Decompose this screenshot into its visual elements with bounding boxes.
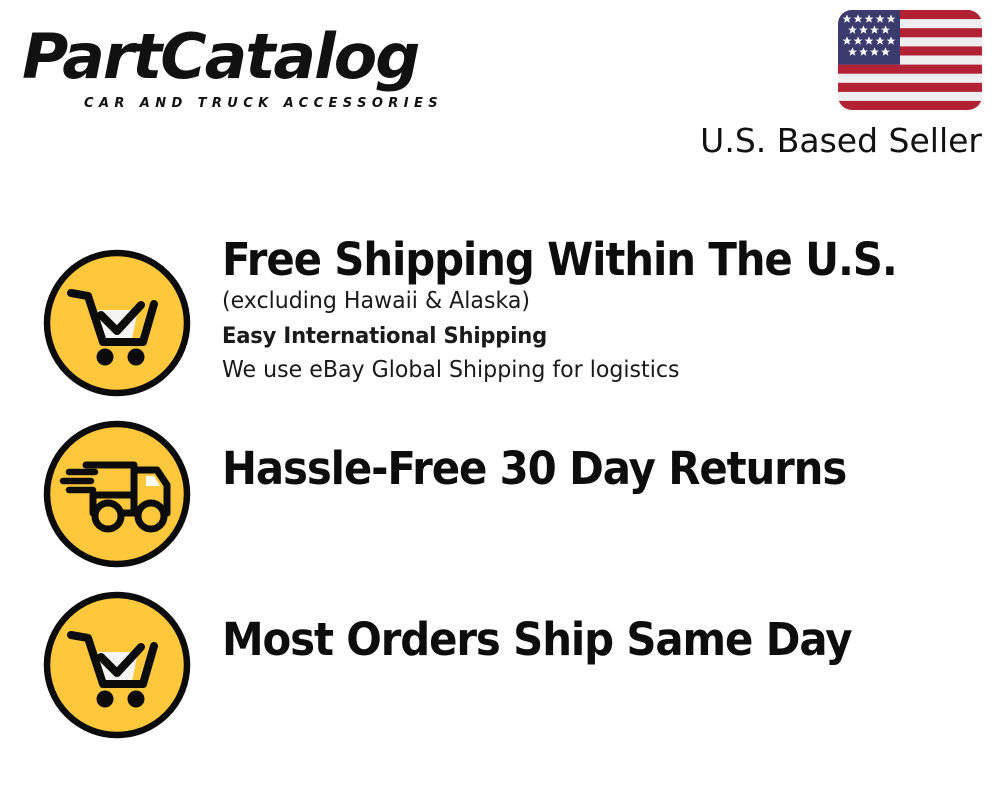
- us-flag-icon: [838, 10, 982, 110]
- feature-subline: We use eBay Global Shipping for logistic…: [222, 355, 961, 385]
- feature-headline: Hassle-Free 30 Day Returns: [222, 443, 938, 495]
- shopping-cart-check-icon: [41, 589, 193, 741]
- shopping-cart-check-icon: [41, 247, 193, 399]
- promo-banner: PartCatalog CAR AND TRUCK ACCESSORIES: [0, 0, 1000, 800]
- us-based-seller-badge: U.S. Based Seller: [682, 10, 982, 160]
- brand-logo: PartCatalog CAR AND TRUCK ACCESSORIES: [22, 22, 492, 118]
- brand-wordmark: PartCatalog: [22, 22, 501, 92]
- feature-row: Hassle-Free 30 Day Returns: [0, 401, 1000, 572]
- brand-tagline: CAR AND TRUCK ACCESSORIES: [84, 96, 443, 112]
- feature-subline-strong: Easy International Shipping: [222, 322, 961, 352]
- feature-row: Free Shipping Within The U.S. (excluding…: [0, 230, 1000, 401]
- feature-subline: (excluding Hawaii & Alaska): [222, 286, 961, 316]
- us-based-seller-label: U.S. Based Seller: [682, 122, 982, 160]
- banner-header: PartCatalog CAR AND TRUCK ACCESSORIES: [0, 0, 1000, 175]
- feature-headline: Free Shipping Within The U.S.: [222, 234, 938, 286]
- feature-row: Most Orders Ship Same Day: [0, 572, 1000, 743]
- feature-text-block: Most Orders Ship Same Day: [222, 614, 992, 666]
- feature-text-block: Hassle-Free 30 Day Returns: [222, 443, 992, 495]
- feature-text-block: Free Shipping Within The U.S. (excluding…: [222, 234, 992, 385]
- delivery-truck-icon: [41, 418, 193, 570]
- feature-headline: Most Orders Ship Same Day: [222, 614, 938, 666]
